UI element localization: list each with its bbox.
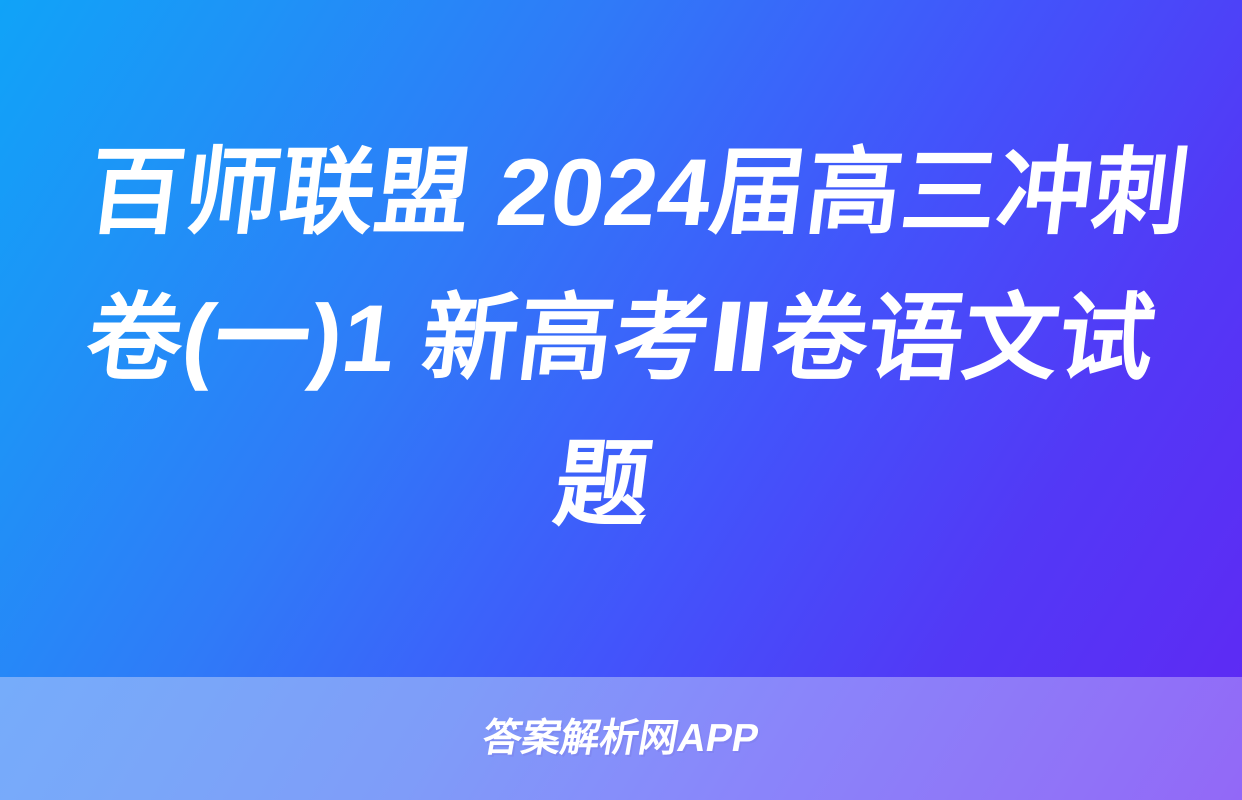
hero-gradient-panel: 百师联盟 2024届高三冲刺卷(一)1 新高考Ⅱ卷语文试题	[0, 0, 1242, 677]
page-title: 百师联盟 2024届高三冲刺卷(一)1 新高考Ⅱ卷语文试题	[31, 120, 1211, 558]
exam-cover-poster: 百师联盟 2024届高三冲刺卷(一)1 新高考Ⅱ卷语文试题 答案解析网APP	[0, 0, 1242, 800]
watermark-band: 答案解析网APP	[0, 677, 1242, 800]
watermark-text: 答案解析网APP	[480, 719, 762, 758]
